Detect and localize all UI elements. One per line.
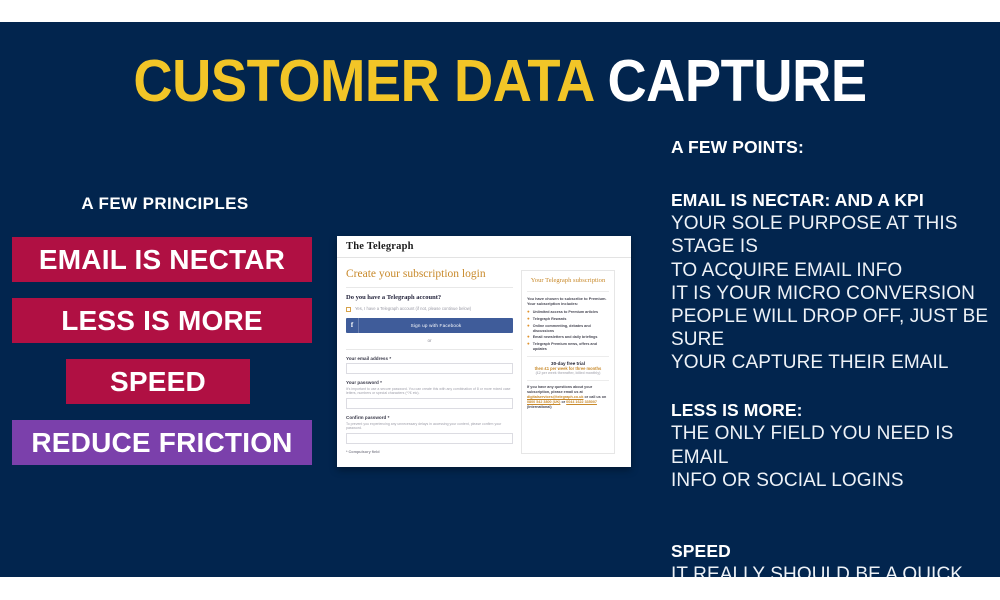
facebook-signup-button-label: Sign up with Facebook	[359, 323, 513, 328]
point-line: INFO OR SOCIAL LOGINS	[671, 469, 991, 492]
contact-phone-uk-link[interactable]: 0800 542 3800 (UK)	[527, 400, 560, 404]
principles-heading: A FEW PRINCIPLES	[10, 194, 320, 214]
principle-bar-email-is-nectar: EMAIL IS NECTAR	[12, 237, 312, 282]
benefit-label: Online commenting, debates and discussio…	[533, 324, 609, 334]
subscription-benefit-item: ● Email newsletters and daily briefings	[527, 335, 609, 340]
point-line: TO ACQUIRE EMAIL INFO	[671, 259, 991, 282]
subscription-benefit-item: ● Online commenting, debates and discuss…	[527, 324, 609, 334]
telegraph-masthead-logo: The Telegraph	[346, 241, 414, 252]
bullet-icon: ●	[527, 317, 530, 322]
slide-canvas: CUSTOMER DATA CAPTURE A FEW PRINCIPLES E…	[0, 22, 1000, 577]
point-block-title: SPEED	[671, 540, 991, 563]
points-heading: A FEW POINTS:	[671, 136, 991, 159]
point-block-title: LESS IS MORE:	[671, 399, 991, 422]
existing-account-checkbox-label: Yes, I have a Telegraph account (if not,…	[355, 306, 471, 311]
benefit-label: Telegraph Rewards	[533, 317, 567, 322]
point-line: THE ONLY FIELD YOU NEED IS EMAIL	[671, 422, 991, 468]
form-title: Create your subscription login	[346, 268, 513, 280]
point-block-email-is-nectar: EMAIL IS NECTAR: AND A KPI YOUR SOLE PUR…	[671, 189, 991, 374]
divider	[346, 349, 513, 350]
bullet-icon: ●	[527, 310, 530, 315]
confirm-password-field-group: Confirm password * To prevent you experi…	[346, 415, 513, 444]
point-block-less-is-more: LESS IS MORE: THE ONLY FIELD YOU NEED IS…	[671, 399, 991, 492]
benefit-label: Telegraph Premium news, offers and updat…	[533, 342, 609, 352]
confirm-password-field-help: To prevent you experiencing any unnecess…	[346, 422, 513, 431]
contact-or-text: or	[561, 400, 565, 404]
divider	[527, 291, 609, 292]
subscription-panel-title: Your Telegraph subscription	[527, 277, 609, 286]
principle-bar-reduce-friction: REDUCE FRICTION	[12, 420, 312, 465]
or-divider-label: or	[346, 338, 513, 343]
point-line: IT REALLY SHOULD BE A QUICK AND	[671, 563, 991, 577]
facebook-icon: f	[346, 318, 359, 333]
password-field-label: Your password *	[346, 380, 513, 385]
subscription-benefit-item: ● Unlimited access to Premium articles	[527, 310, 609, 315]
contact-email-link[interactable]: digitalservices@telegraph.co.uk	[527, 395, 583, 399]
bullet-icon: ●	[527, 324, 530, 334]
spacer	[671, 159, 991, 189]
subscription-contact-block: If you have any questions about your sub…	[527, 385, 609, 411]
email-field-label: Your email address *	[346, 356, 513, 361]
password-input[interactable]	[346, 398, 513, 409]
telegraph-signup-screenshot: The Telegraph Create your subscription l…	[337, 236, 631, 467]
trial-terms-line: (£2 per week thereafter, billed monthly)	[527, 371, 609, 376]
subscription-benefit-item: ● Telegraph Premium news, offers and upd…	[527, 342, 609, 352]
principle-bar-less-is-more: LESS IS MORE	[12, 298, 312, 343]
points-column: A FEW POINTS: EMAIL IS NECTAR: AND A KPI…	[671, 136, 991, 577]
title-part-gold: CUSTOMER DATA	[133, 48, 592, 114]
confirm-password-field-label: Confirm password *	[346, 415, 513, 420]
divider	[346, 287, 513, 288]
facebook-signup-button[interactable]: f Sign up with Facebook	[346, 318, 513, 333]
contact-international-label: (International)	[527, 405, 552, 409]
subscription-benefit-item: ● Telegraph Rewards	[527, 317, 609, 322]
signup-form: Create your subscription login Do you ha…	[346, 268, 521, 454]
principle-bar-label: LESS IS MORE	[61, 307, 263, 335]
email-field-group: Your email address *	[346, 356, 513, 374]
divider	[527, 356, 609, 357]
existing-account-checkbox[interactable]	[346, 307, 351, 312]
principle-bar-label: SPEED	[110, 368, 206, 396]
telegraph-header-bar: The Telegraph	[337, 236, 631, 258]
password-field-group: Your password * It's important to use a …	[346, 380, 513, 409]
bullet-icon: ●	[527, 342, 530, 352]
point-line: PEOPLE WILL DROP OFF, JUST BE SURE	[671, 305, 991, 351]
telegraph-body: Create your subscription login Do you ha…	[337, 258, 631, 454]
subscription-intro-text: You have chosen to subscribe to Premium.…	[527, 296, 609, 307]
subscription-summary-panel: Your Telegraph subscription You have cho…	[521, 270, 615, 454]
contact-phone-international-link[interactable]: 0044 1622 335007	[566, 400, 597, 404]
principle-bar-label: EMAIL IS NECTAR	[39, 246, 285, 274]
point-block-speed: SPEED IT REALLY SHOULD BE A QUICK AND EA…	[671, 540, 991, 577]
bullet-icon: ●	[527, 335, 530, 340]
existing-account-checkbox-row[interactable]: Yes, I have a Telegraph account (if not,…	[346, 306, 513, 312]
principle-bar-speed: SPEED	[66, 359, 250, 404]
point-line: YOUR SOLE PURPOSE AT THIS STAGE IS	[671, 212, 991, 258]
email-input[interactable]	[346, 363, 513, 374]
spacer	[671, 374, 991, 399]
compulsory-field-note: * Compulsory field	[346, 450, 513, 454]
divider	[527, 380, 609, 381]
point-block-title: EMAIL IS NECTAR: AND A KPI	[671, 189, 991, 212]
principle-bar-label: REDUCE FRICTION	[31, 429, 292, 457]
spacer	[671, 492, 991, 540]
contact-mid-text: or call us on	[585, 395, 607, 399]
benefit-label: Unlimited access to Premium articles	[533, 310, 598, 315]
contact-intro-text: If you have any questions about your sub…	[527, 385, 592, 394]
title-part-white: CAPTURE	[607, 48, 866, 114]
page-title: CUSTOMER DATA CAPTURE	[40, 52, 960, 111]
point-line: IT IS YOUR MICRO CONVERSION	[671, 282, 991, 305]
benefit-label: Email newsletters and daily briefings	[533, 335, 598, 340]
confirm-password-input[interactable]	[346, 433, 513, 444]
account-question-label: Do you have a Telegraph account?	[346, 294, 513, 301]
password-field-help: It's important to use a secure password.…	[346, 387, 513, 396]
point-line: YOUR CAPTURE THEIR EMAIL	[671, 351, 991, 374]
